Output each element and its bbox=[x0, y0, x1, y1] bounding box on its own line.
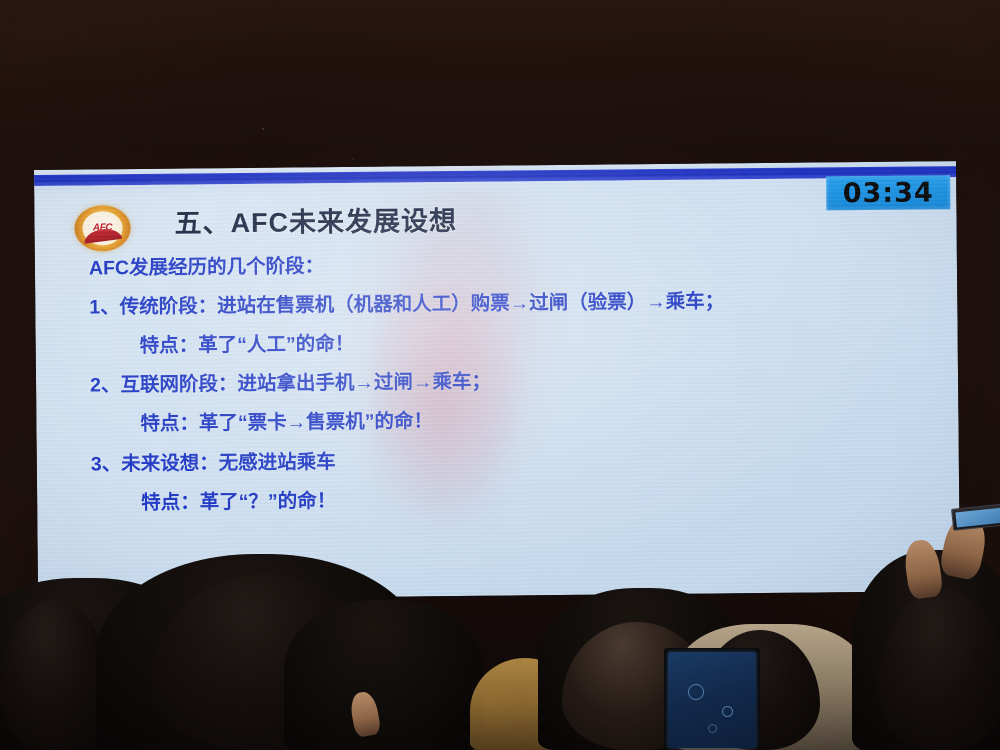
audience-head bbox=[228, 646, 324, 750]
photo-scene: AFC 五、AFC未来发展设想 03:34 AFC发展经历的几个阶段： 1、传统… bbox=[0, 0, 1000, 750]
afc-logo-label: AFC bbox=[75, 222, 131, 234]
slide-line-item-1-sub: 特点：革了“人工”的命！ bbox=[140, 335, 355, 357]
screen-circle-icon bbox=[708, 724, 717, 733]
audience-head bbox=[196, 670, 270, 750]
projection-screen: AFC 五、AFC未来发展设想 03:34 AFC发展经历的几个阶段： 1、传统… bbox=[34, 161, 960, 600]
slide-surface: AFC 五、AFC未来发展设想 03:34 AFC发展经历的几个阶段： 1、传统… bbox=[34, 161, 960, 600]
slide-line-item-1: 1、传统阶段：进站在售票机（机器和人工）购票→过闸（验票）→乘车； bbox=[89, 292, 724, 318]
slide-line-intro: AFC发展经历的几个阶段： bbox=[89, 257, 324, 279]
audience-head bbox=[686, 690, 752, 750]
audience-head bbox=[806, 686, 878, 750]
audience-head bbox=[648, 634, 754, 750]
audience-head bbox=[470, 688, 526, 750]
chair-back bbox=[940, 664, 1000, 750]
audience-head bbox=[386, 662, 470, 750]
laptop-frame bbox=[664, 648, 760, 748]
audience-head bbox=[562, 622, 712, 750]
screen-circle-icon bbox=[688, 684, 704, 700]
audience-head bbox=[592, 682, 666, 750]
chair-back bbox=[398, 678, 482, 750]
audience-head bbox=[556, 640, 654, 750]
countdown-timer-value: 03:34 bbox=[843, 179, 934, 207]
audience-head bbox=[746, 696, 810, 750]
audience-head bbox=[876, 688, 944, 750]
audience-head bbox=[878, 590, 1000, 750]
wall-speck bbox=[262, 128, 264, 130]
page-title: 五、AFC未来发展设想 bbox=[174, 199, 457, 241]
audience-shirt bbox=[676, 624, 866, 750]
audience-head bbox=[62, 696, 124, 750]
audience-head bbox=[132, 704, 202, 750]
screen-circle-icon bbox=[722, 706, 733, 717]
raised-hand bbox=[348, 690, 381, 738]
audience-head bbox=[0, 600, 110, 750]
audience-person bbox=[0, 578, 210, 750]
slide-body: AFC发展经历的几个阶段： 1、传统阶段：进站在售票机（机器和人工）购票→过闸（… bbox=[35, 251, 957, 260]
slide-line-item-2: 2、互联网阶段：进站拿出手机→过闸→乘车； bbox=[90, 373, 491, 396]
audience-head bbox=[318, 672, 380, 750]
audience-person bbox=[538, 588, 748, 750]
audience-shirt bbox=[862, 652, 958, 750]
laptop-screen[interactable] bbox=[668, 652, 756, 748]
slide-line-item-3-sub: 特点：革了“？”的命！ bbox=[141, 492, 336, 513]
audience-head bbox=[820, 654, 908, 750]
audience-head bbox=[520, 680, 590, 750]
slide-watermark-graphic-secondary bbox=[365, 285, 517, 516]
slide-line-item-2-sub: 特点：革了“票卡→售票机”的命！ bbox=[140, 412, 433, 434]
slide-line-item-3: 3、未来设想：无感进站乘车 bbox=[91, 453, 336, 475]
phone-screen bbox=[955, 508, 1000, 528]
audience-shirt bbox=[742, 642, 854, 750]
wall-speck bbox=[352, 158, 354, 160]
audience-head bbox=[700, 630, 820, 750]
afc-logo: AFC bbox=[74, 205, 130, 252]
audience-head bbox=[628, 698, 688, 750]
audience-person bbox=[284, 600, 484, 750]
countdown-timer: 03:34 bbox=[826, 175, 950, 210]
audience-head bbox=[150, 574, 380, 750]
chair-back bbox=[470, 658, 580, 750]
